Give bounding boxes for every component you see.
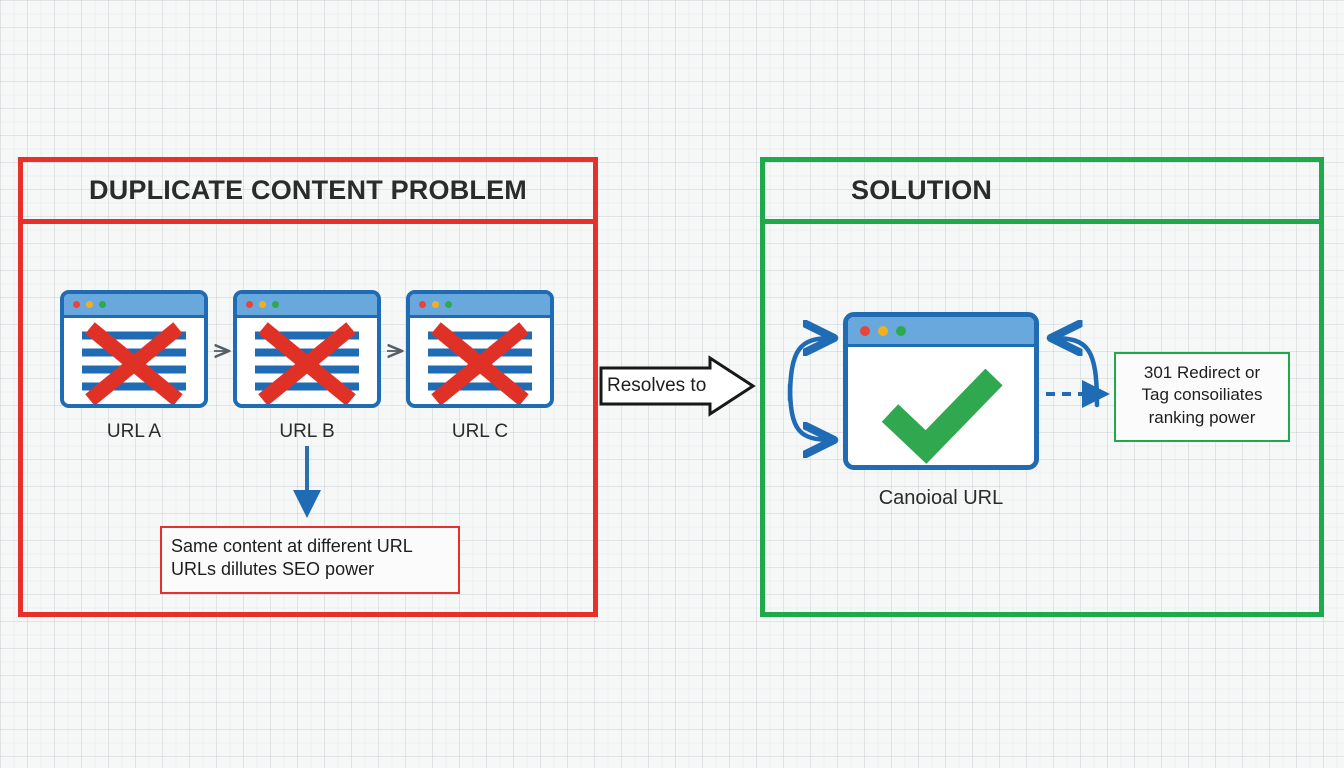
solution-callout-line-2: Tag consoiliates <box>1122 384 1282 406</box>
window-dot-green-icon <box>896 326 906 336</box>
window-dot-yellow-icon <box>259 301 266 308</box>
red-cross-icon <box>64 318 204 408</box>
problem-callout-line-2: URLs dillutes SEO power <box>171 558 458 581</box>
browser-window-label-url-a: URL A <box>60 421 208 443</box>
resolves-to-label: Resolves to <box>607 375 706 397</box>
browser-window-url-a[interactable] <box>60 290 208 408</box>
browser-body <box>848 347 1034 465</box>
browser-body <box>64 318 204 404</box>
browser-titlebar <box>848 317 1034 347</box>
browser-titlebar <box>64 294 204 318</box>
browser-titlebar <box>410 294 550 318</box>
browser-body <box>410 318 550 404</box>
window-dot-yellow-icon <box>878 326 888 336</box>
window-dot-red-icon <box>419 301 426 308</box>
window-dot-green-icon <box>272 301 279 308</box>
browser-window-url-c[interactable] <box>406 290 554 408</box>
window-dot-green-icon <box>99 301 106 308</box>
problem-callout-box: Same content at different URL URLs dillu… <box>160 526 460 594</box>
resolves-to-arrow: Resolves to <box>598 355 756 417</box>
red-cross-icon <box>237 318 377 408</box>
browser-body <box>237 318 377 404</box>
window-dot-green-icon <box>445 301 452 308</box>
problem-callout-line-1: Same content at different URL <box>171 535 458 558</box>
browser-window-label-url-c: URL C <box>406 421 554 443</box>
browser-window-label-canonical-url: Canoioal URL <box>843 487 1039 510</box>
solution-callout-line-1: 301 Redirect or <box>1122 362 1282 384</box>
window-dot-yellow-icon <box>432 301 439 308</box>
browser-window-url-b[interactable] <box>233 290 381 408</box>
solution-panel-title: SOLUTION <box>851 175 992 206</box>
solution-panel-header: SOLUTION <box>765 162 1319 224</box>
browser-titlebar <box>237 294 377 318</box>
window-dot-red-icon <box>246 301 253 308</box>
browser-window-label-url-b: URL B <box>233 421 381 443</box>
problem-panel-title: DUPLICATE CONTENT PROBLEM <box>89 175 527 206</box>
red-cross-icon <box>410 318 550 408</box>
browser-window-canonical-url[interactable] <box>843 312 1039 470</box>
green-check-icon <box>848 347 1034 470</box>
problem-panel-header: DUPLICATE CONTENT PROBLEM <box>23 162 593 224</box>
window-dot-red-icon <box>73 301 80 308</box>
solution-callout-box: 301 Redirect or Tag consoiliates ranking… <box>1114 352 1290 442</box>
window-dot-red-icon <box>860 326 870 336</box>
window-dot-yellow-icon <box>86 301 93 308</box>
solution-callout-line-3: ranking power <box>1122 407 1282 429</box>
